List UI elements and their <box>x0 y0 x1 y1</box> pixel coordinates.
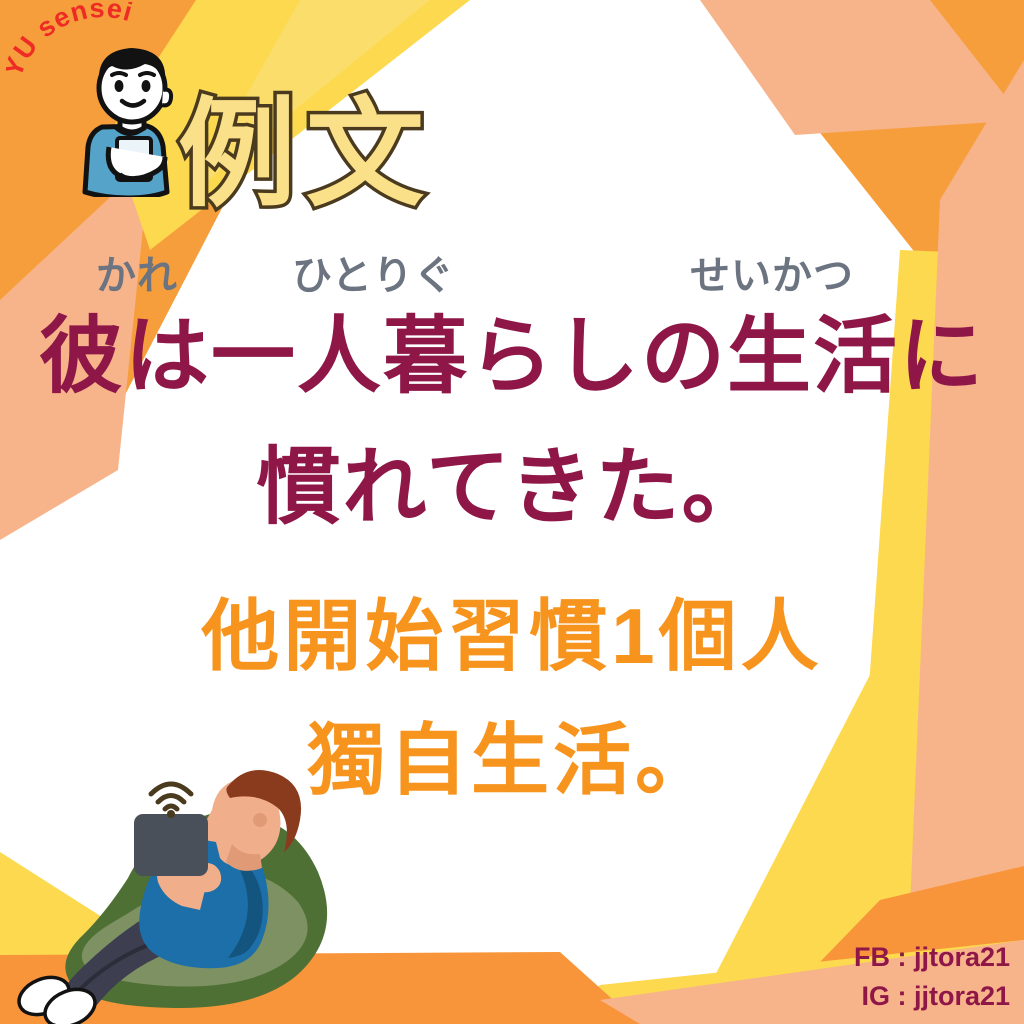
translation-line-1: 他開始習慣1個人 <box>0 594 1024 680</box>
illustration-man-relaxing-beanbag <box>14 756 374 1024</box>
wifi-icon <box>151 784 191 809</box>
japanese-sentence-line-2: 慣れてきた。 <box>0 443 1024 532</box>
social-facebook-handle: jjtora21 <box>914 942 1010 972</box>
japanese-sentence-block: かれ ひとりぐ せいかつ 彼は一人暮らしの生活に 慣れてきた。 <box>0 256 1024 532</box>
japanese-sentence-line-1: 彼は一人暮らしの生活に <box>0 312 1024 401</box>
decor-shape-top-right-salmon <box>700 0 1024 135</box>
furigana-row: かれ ひとりぐ せいかつ <box>0 256 1024 308</box>
social-instagram-handle: jjtora21 <box>914 981 1010 1011</box>
ear-shape <box>253 813 267 827</box>
furigana-seikatsu: せいかつ <box>690 256 854 296</box>
social-instagram-separator: : <box>890 981 914 1011</box>
furigana-hitorigu: ひとりぐ <box>292 256 455 296</box>
decor-shape-right-salmon <box>905 60 1024 1024</box>
social-instagram[interactable]: IG : jjtora21 <box>854 977 1010 1016</box>
wifi-dot <box>167 810 175 818</box>
social-handles: FB : jjtora21 IG : jjtora21 <box>854 938 1010 1016</box>
social-facebook[interactable]: FB : jjtora21 <box>854 938 1010 977</box>
tablet-icon <box>134 814 208 876</box>
social-facebook-platform: FB <box>854 942 890 972</box>
furigana-kare: かれ <box>96 256 178 296</box>
infographic-card: YU sensei <box>0 0 1024 1024</box>
social-facebook-separator: : <box>890 942 914 972</box>
page-title: 例文 <box>178 96 434 214</box>
social-instagram-platform: IG <box>861 981 890 1011</box>
